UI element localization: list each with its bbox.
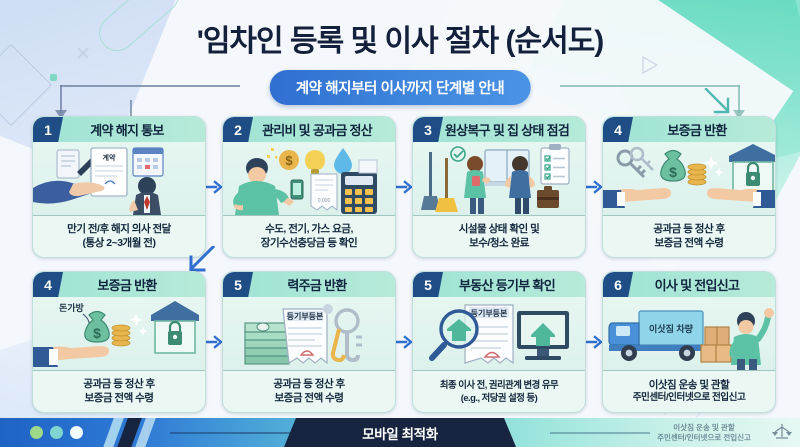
footer-dot-3 xyxy=(70,426,83,439)
page-title: '임차인 등록 및 이사 절차 (순서도) xyxy=(0,16,800,60)
footer-watermark-line-1: 이삿짐 운송 및 관할 xyxy=(640,423,768,433)
svg-text:$: $ xyxy=(669,164,677,180)
footer-banner: 모바일 최적화 xyxy=(284,418,516,447)
card-header: 4 보증금 반환 xyxy=(603,117,775,142)
step-number-badge: 4 xyxy=(603,117,633,142)
flow-row-2: 4 보증금 반환 돈가방 $ 공과금 xyxy=(32,271,768,413)
card-title: 이사 및 전입신고 xyxy=(633,275,775,294)
card-header: 1 계약 해지 통보 xyxy=(33,117,205,142)
card-header: 6 이사 및 전입신고 xyxy=(603,272,775,297)
card-illustration: 등기부등본 xyxy=(413,297,585,371)
flow-arrow-down-right-icon xyxy=(704,88,734,121)
caption-line-1: 시설물 상태 확인 및 xyxy=(459,223,540,236)
connector-stub-top xyxy=(130,100,132,116)
bracket-vertical-left xyxy=(60,85,62,113)
card-illustration: $ 0,000 xyxy=(223,142,395,216)
caption-line-2: (e.g., 저당권 설정 등) xyxy=(461,392,538,404)
card-title: 원상복구 및 집 상태 점검 xyxy=(443,120,585,139)
card-header: 5 부동산 등기부 확인 xyxy=(413,272,585,297)
flow-arrow-right-icon xyxy=(206,116,222,258)
footer-dot-2 xyxy=(50,426,63,439)
card-caption: 공과금 등 정산 후 보증금 전액 수령 xyxy=(603,216,775,257)
step-card[interactable]: 3 원상복구 및 집 상태 점검 xyxy=(412,116,586,258)
svg-text:돈가방: 돈가방 xyxy=(59,302,85,313)
caption-line-1: 공과금 등 정산 후 xyxy=(83,378,154,391)
card-illustration: 이삿짐 차량 xyxy=(603,297,775,371)
step-card[interactable]: 2 관리비 및 공과금 정산 $ xyxy=(222,116,396,258)
flow-arrow-right-icon xyxy=(586,271,602,413)
subtitle-pill: 계약 해지부터 이사까지 단계별 안내 xyxy=(270,70,531,105)
flow-arrow-right-icon xyxy=(206,271,222,413)
step-card[interactable]: 4 보증금 반환 돈가방 $ 공과금 xyxy=(32,271,206,413)
step-number-badge: 4 xyxy=(33,272,63,297)
caption-line-2: 보증금 전액 수령 xyxy=(275,392,344,405)
step-number-badge: 2 xyxy=(223,117,253,142)
card-caption: 시설물 상태 확인 및 보수/청소 완료 xyxy=(413,216,585,257)
bg-shape-small-square xyxy=(50,74,57,81)
step-number-badge: 5 xyxy=(413,272,443,297)
card-title: 력주금 반환 xyxy=(253,275,395,294)
caption-line-1: 공과금 등 정산 후 xyxy=(653,223,724,236)
card-caption: 수도, 전기, 가스 요금, 장기수선충당금 등 확인 xyxy=(223,216,395,257)
caption-line-1: 최종 이사 전, 권리관계 변경 유무 xyxy=(440,379,558,391)
caption-line-2: 장기수선충당금 등 확인 xyxy=(261,237,357,250)
caption-line-2: (통상 2~3개월 전) xyxy=(83,237,156,250)
card-caption: 최종 이사 전, 권리관계 변경 유무 (e.g., 저당권 설정 등) xyxy=(413,371,585,412)
card-illustration xyxy=(413,142,585,216)
svg-text:계약: 계약 xyxy=(103,153,116,162)
svg-text:0,000: 0,000 xyxy=(318,198,331,204)
card-title: 부동산 등기부 확인 xyxy=(443,275,585,294)
card-caption: 만기 전/후 해지 의사 전달 (통상 2~3개월 전) xyxy=(33,216,205,257)
svg-text:$: $ xyxy=(285,153,293,168)
card-caption: 공과금 등 정산 후 보증금 전액 수령 xyxy=(33,371,205,412)
caption-line-1: 만기 전/후 해지 의사 전달 xyxy=(67,223,171,236)
footer-dot-1 xyxy=(30,426,43,439)
step-number-badge: 3 xyxy=(413,117,443,142)
card-illustration: 돈가방 $ xyxy=(33,297,205,371)
svg-text:등기부등본: 등기부등본 xyxy=(471,308,508,318)
caption-line-1: 수도, 전기, 가스 요금, xyxy=(265,223,353,236)
footer-line-right xyxy=(550,432,650,434)
step-number-badge: 5 xyxy=(223,272,253,297)
svg-text:이삿짐 차량: 이삿짐 차량 xyxy=(649,323,694,334)
step-card[interactable]: 5 력주금 반환 등기부등본 xyxy=(222,271,396,413)
bracket-line-left xyxy=(60,85,240,87)
svg-text:등기부등본: 등기부등본 xyxy=(287,311,324,321)
flow-row-1: 1 계약 해지 통보 계약 xyxy=(32,116,768,258)
scales-icon xyxy=(772,422,792,445)
footer-dots xyxy=(30,426,83,439)
caption-line-2: 보수/청소 완료 xyxy=(469,237,529,250)
flow-arrow-right-icon xyxy=(396,271,412,413)
card-header: 2 관리비 및 공과금 정산 xyxy=(223,117,395,142)
bracket-line-right xyxy=(560,85,740,87)
footer-watermark-line-2: 주민센터/인터넷으로 전입신고 xyxy=(640,433,768,443)
footer-line-left xyxy=(170,432,290,434)
bracket-vertical-right xyxy=(738,85,740,113)
card-title: 계약 해지 통보 xyxy=(63,120,205,139)
caption-line-1: 공과금 등 정산 후 xyxy=(273,378,344,391)
step-card[interactable]: 4 보증금 반환 $ xyxy=(602,116,776,258)
card-title: 보증금 반환 xyxy=(633,120,775,139)
card-header: 3 원상복구 및 집 상태 점검 xyxy=(413,117,585,142)
step-card[interactable]: 6 이사 및 전입신고 이삿짐 차량 xyxy=(602,271,776,413)
caption-line-1: 이삿짐 운송 및 관할 xyxy=(649,379,730,392)
flow-arrow-right-icon xyxy=(586,116,602,258)
card-header: 5 력주금 반환 xyxy=(223,272,395,297)
card-caption: 이삿짐 운송 및 관할 주민센터/인터넷으로 전입신고 xyxy=(603,371,775,412)
step-card[interactable]: 1 계약 해지 통보 계약 xyxy=(32,116,206,258)
card-illustration: $ xyxy=(603,142,775,216)
card-illustration: 등기부등본 xyxy=(223,297,395,371)
step-card[interactable]: 5 부동산 등기부 확인 등기부등본 최종 이사 전, 권리관계 변경 유무 xyxy=(412,271,586,413)
footer-watermark-text: 이삿짐 운송 및 관할 주민센터/인터넷으로 전입신고 xyxy=(640,423,768,443)
footer-watermark: 이삿짐 운송 및 관할 주민센터/인터넷으로 전입신고 xyxy=(640,420,792,446)
card-illustration: 계약 xyxy=(33,142,205,216)
svg-text:$: $ xyxy=(93,325,101,341)
caption-line-2: 주민센터/인터넷으로 전입신고 xyxy=(633,392,746,404)
caption-line-2: 보증금 전액 수령 xyxy=(85,392,154,405)
card-title: 보증금 반환 xyxy=(63,275,205,294)
footer-bar: 모바일 최적화 이삿짐 운송 및 관할 주민센터/인터넷으로 전입신고 xyxy=(0,418,800,447)
caption-line-2: 보증금 전액 수령 xyxy=(655,237,724,250)
card-header: 4 보증금 반환 xyxy=(33,272,205,297)
flow-arrow-right-icon xyxy=(396,116,412,258)
step-number-badge: 1 xyxy=(33,117,63,142)
step-number-badge: 6 xyxy=(603,272,633,297)
card-title: 관리비 및 공과금 정산 xyxy=(253,120,395,139)
card-caption: 공과금 등 정산 후 보증금 전액 수령 xyxy=(223,371,395,412)
